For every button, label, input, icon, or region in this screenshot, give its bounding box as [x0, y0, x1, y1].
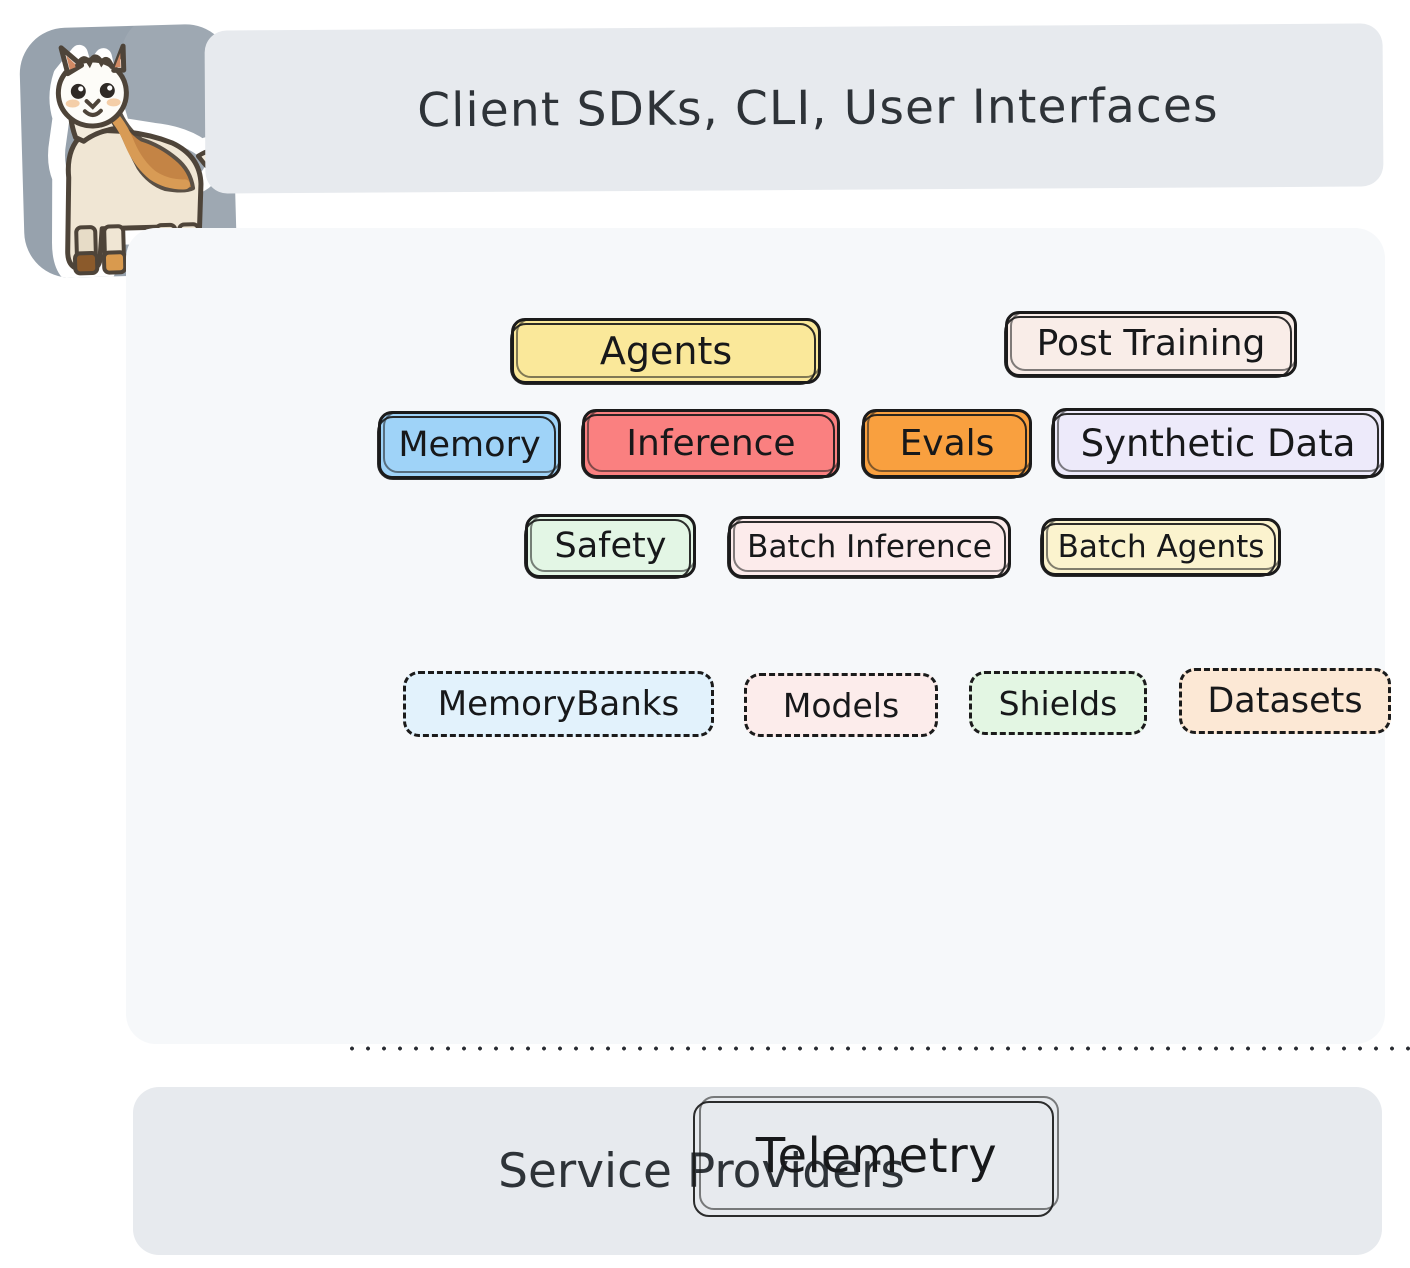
node-safety-label: Safety	[555, 529, 667, 564]
node-post-training[interactable]: Post Training	[1005, 311, 1297, 377]
node-evals[interactable]: Evals	[862, 409, 1032, 478]
node-shields-label: Shields	[999, 687, 1118, 720]
node-memory-label: Memory	[398, 428, 540, 463]
node-safety[interactable]: Safety	[525, 514, 696, 578]
node-post-training-label: Post Training	[1037, 326, 1266, 362]
api-layer-panel: AgentsPost TrainingMemoryInferenceEvalsS…	[126, 228, 1385, 1044]
node-telemetry-label: Telemetry	[756, 1132, 997, 1180]
node-agents-label: Agents	[600, 332, 732, 370]
node-batch-inference[interactable]: Batch Inference	[728, 516, 1011, 578]
node-datasets-label: Datasets	[1207, 684, 1362, 719]
node-shields[interactable]: Shields	[969, 671, 1147, 735]
node-inference-label: Inference	[626, 426, 795, 462]
node-evals-label: Evals	[900, 426, 995, 462]
node-memorybanks[interactable]: MemoryBanks	[403, 671, 714, 737]
node-synthetic-data-label: Synthetic Data	[1081, 425, 1356, 462]
node-batch-agents[interactable]: Batch Agents	[1041, 518, 1281, 576]
client-layer-bar: Client SDKs, CLI, User Interfaces	[205, 23, 1384, 193]
page-title: Client SDKs, CLI, User Interfaces	[205, 23, 1384, 193]
node-synthetic-data[interactable]: Synthetic Data	[1052, 408, 1384, 478]
node-models[interactable]: Models	[744, 673, 938, 737]
node-memorybanks-label: MemoryBanks	[438, 687, 679, 721]
node-batch-inference-label: Batch Inference	[747, 532, 992, 563]
node-inference[interactable]: Inference	[582, 409, 840, 478]
node-agents[interactable]: Agents	[511, 318, 821, 384]
node-datasets[interactable]: Datasets	[1179, 668, 1391, 734]
node-memory[interactable]: Memory	[378, 411, 561, 479]
node-models-label: Models	[783, 689, 899, 722]
section-divider	[344, 1046, 1410, 1051]
node-batch-agents-label: Batch Agents	[1058, 532, 1265, 563]
